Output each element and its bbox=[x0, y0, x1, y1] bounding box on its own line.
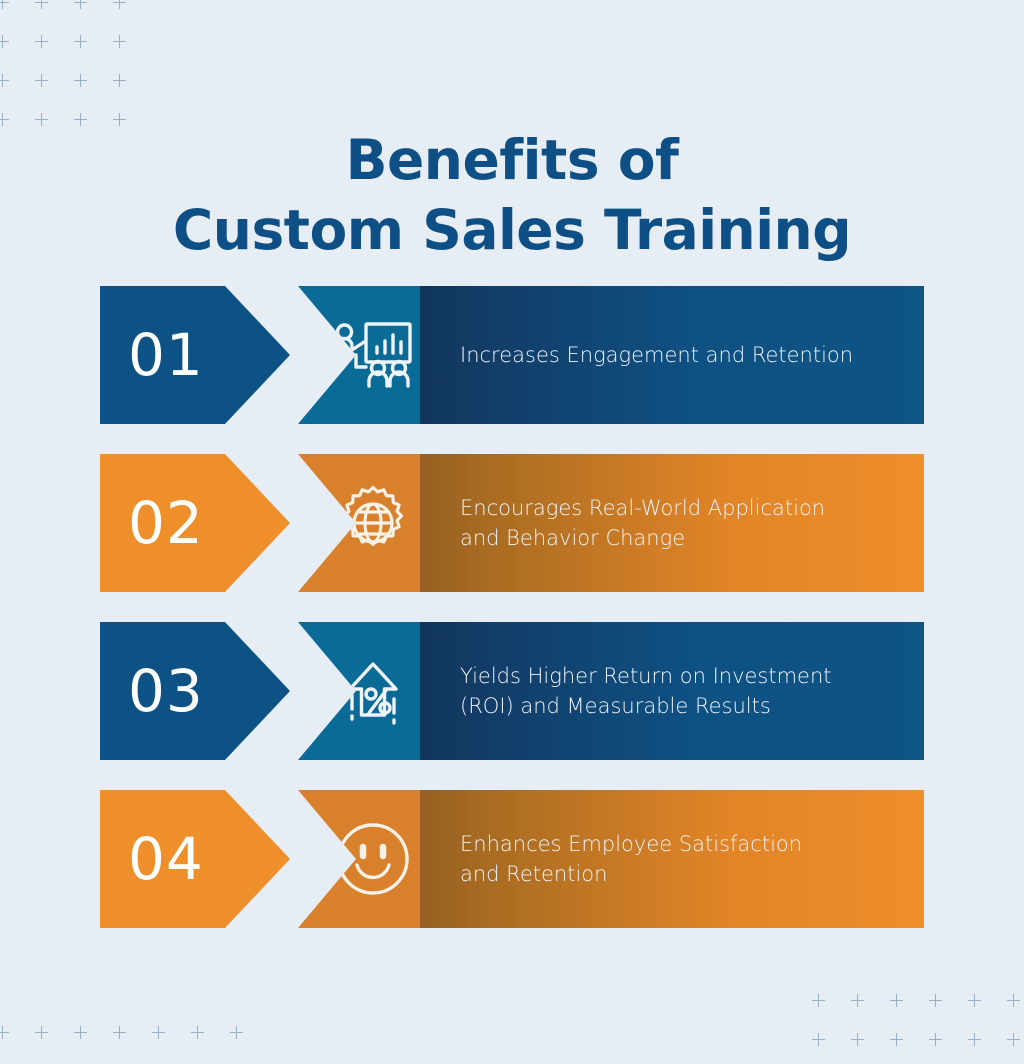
benefit-number-block: 02 bbox=[100, 454, 290, 592]
benefit-number-block: 04 bbox=[100, 790, 290, 928]
benefits-list: 01 Increases Engagement and Retention02 … bbox=[100, 286, 924, 958]
plus-mark-icon bbox=[890, 994, 903, 1007]
plus-mark-icon bbox=[74, 1026, 87, 1039]
benefit-row: 04 Enhances Employee Satisfaction and Re… bbox=[100, 790, 924, 928]
plus-mark-icon bbox=[35, 35, 48, 48]
benefit-row: 03 Yields Higher Return on Investment (R… bbox=[100, 622, 924, 760]
benefit-number-block: 01 bbox=[100, 286, 290, 424]
plus-mark-icon bbox=[113, 74, 126, 87]
plus-mark-icon bbox=[968, 994, 981, 1007]
plus-mark-icon bbox=[812, 994, 825, 1007]
plus-mark-icon bbox=[230, 1026, 243, 1039]
benefit-text: Enhances Employee Satisfaction and Reten… bbox=[420, 829, 822, 889]
page-title-line-1: Benefits of bbox=[0, 125, 1024, 195]
plus-mark-icon bbox=[1007, 994, 1020, 1007]
plus-mark-icon bbox=[851, 1033, 864, 1046]
decorative-plus-pattern-bottom-left bbox=[0, 1026, 246, 1046]
benefit-text-block: Encourages Real-World Application and Be… bbox=[420, 454, 924, 592]
decorative-plus-pattern-top-left bbox=[0, 0, 136, 126]
plus-mark-icon bbox=[191, 1026, 204, 1039]
plus-mark-icon bbox=[152, 1026, 165, 1039]
arrow-up-percent-icon bbox=[340, 653, 406, 729]
decorative-plus-pattern-bottom-right bbox=[812, 994, 1024, 1044]
page-title-line-2: Custom Sales Training bbox=[0, 195, 1024, 265]
benefit-number: 02 bbox=[100, 494, 204, 552]
smiley-face-icon bbox=[336, 822, 410, 896]
plus-mark-icon bbox=[74, 74, 87, 87]
plus-mark-icon bbox=[851, 994, 864, 1007]
benefit-text: Encourages Real-World Application and Be… bbox=[420, 493, 845, 553]
benefit-text-block: Yields Higher Return on Investment (ROI)… bbox=[420, 622, 924, 760]
plus-mark-icon bbox=[812, 1033, 825, 1046]
plus-mark-icon bbox=[74, 35, 87, 48]
plus-mark-icon bbox=[0, 1026, 9, 1039]
plus-mark-icon bbox=[0, 74, 9, 87]
plus-mark-icon bbox=[35, 1026, 48, 1039]
benefit-number: 03 bbox=[100, 662, 204, 720]
benefit-number: 04 bbox=[100, 830, 204, 888]
plus-mark-icon bbox=[113, 0, 126, 9]
benefit-row: 01 Increases Engagement and Retention bbox=[100, 286, 924, 424]
plus-mark-icon bbox=[0, 0, 9, 9]
plus-mark-icon bbox=[0, 35, 9, 48]
benefit-icon-block bbox=[298, 622, 420, 760]
plus-mark-icon bbox=[35, 0, 48, 9]
plus-mark-icon bbox=[74, 0, 87, 9]
plus-mark-icon bbox=[968, 1033, 981, 1046]
plus-mark-icon bbox=[1007, 1033, 1020, 1046]
plus-mark-icon bbox=[890, 1033, 903, 1046]
benefit-text: Yields Higher Return on Investment (ROI)… bbox=[420, 661, 852, 721]
benefit-number: 01 bbox=[100, 326, 204, 384]
benefit-text-block: Increases Engagement and Retention bbox=[420, 286, 924, 424]
plus-mark-icon bbox=[113, 1026, 126, 1039]
benefit-text: Increases Engagement and Retention bbox=[420, 340, 873, 370]
presentation-training-icon bbox=[334, 322, 412, 388]
plus-mark-icon bbox=[113, 35, 126, 48]
benefit-icon-block bbox=[298, 286, 420, 424]
plus-mark-icon bbox=[929, 994, 942, 1007]
benefit-row: 02 Encourages Real-World Application and… bbox=[100, 454, 924, 592]
benefit-number-block: 03 bbox=[100, 622, 290, 760]
benefit-icon-block bbox=[298, 454, 420, 592]
globe-gear-icon bbox=[335, 485, 411, 561]
plus-mark-icon bbox=[929, 1033, 942, 1046]
page-title: Benefits of Custom Sales Training bbox=[0, 125, 1024, 265]
benefit-icon-block bbox=[298, 790, 420, 928]
benefit-text-block: Enhances Employee Satisfaction and Reten… bbox=[420, 790, 924, 928]
plus-mark-icon bbox=[35, 74, 48, 87]
